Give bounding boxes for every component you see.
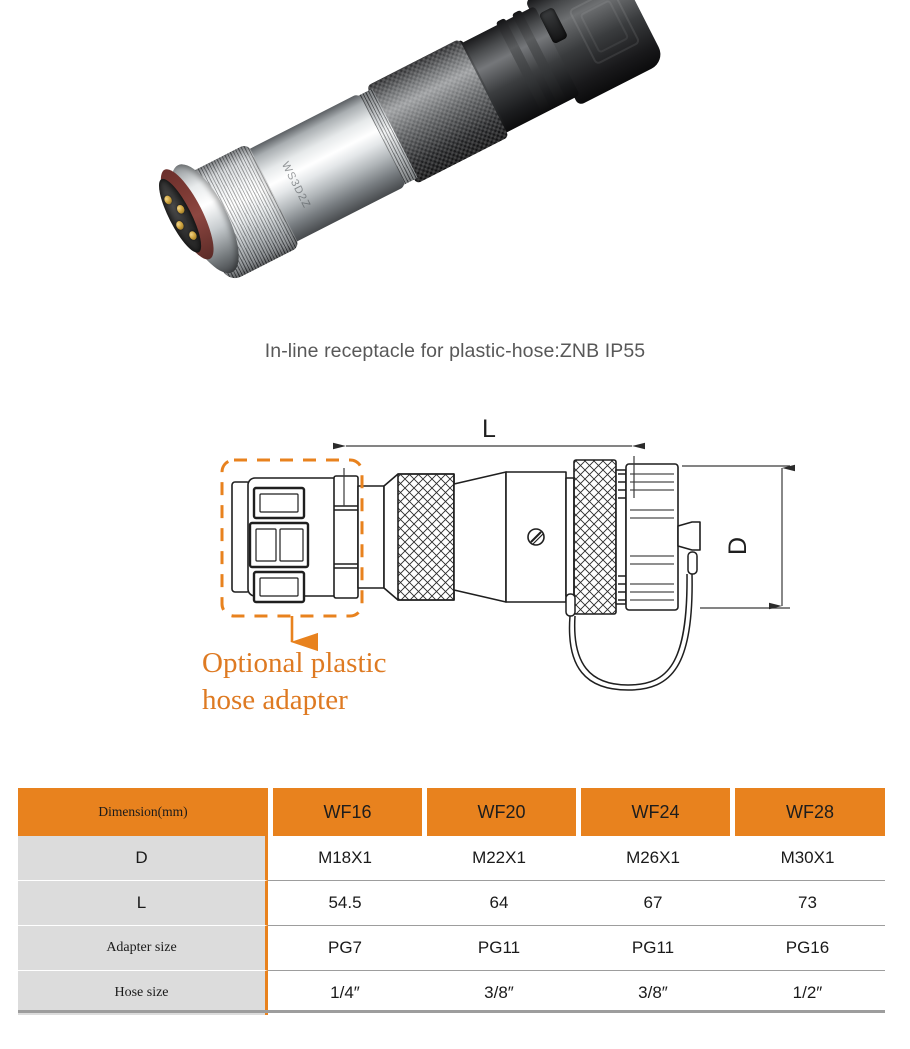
cell-d-wf24: M26X1	[576, 836, 730, 880]
annotation-line-2: hose adapter	[202, 682, 532, 719]
cell-d-wf20: M22X1	[422, 836, 576, 880]
column-header-wf28: WF28	[730, 788, 885, 836]
cell-d-wf28: M30X1	[730, 836, 885, 880]
cell-l-wf24: 67	[576, 880, 730, 925]
cell-d-wf16: M18X1	[268, 836, 422, 880]
row-label-l: L	[18, 880, 268, 925]
connector-assembly: WS3D2Z	[181, 0, 661, 274]
dimension-D-label: D	[724, 537, 752, 555]
contact-insert	[152, 174, 209, 257]
cell-adapter-wf28: PG16	[730, 925, 885, 970]
table-bottom-rule	[18, 1010, 885, 1013]
dimension-table: Dimension(mm) WF16 WF20 WF24 WF28 D M18X…	[18, 788, 885, 1015]
table-row: D M18X1 M22X1 M26X1 M30X1	[18, 836, 885, 880]
specification-table: Dimension(mm) WF16 WF20 WF24 WF28 D M18X…	[18, 788, 885, 1015]
cell-l-wf28: 73	[730, 880, 885, 925]
table-header-row: Dimension(mm) WF16 WF20 WF24 WF28	[18, 788, 885, 836]
receptacle-body-drawing	[358, 460, 700, 614]
cell-hose-wf20: 3/8″	[422, 970, 576, 1015]
cap-emboss	[568, 0, 641, 65]
cell-adapter-wf20: PG11	[422, 925, 576, 970]
face-seal-ring	[151, 163, 223, 266]
table-corner-label: Dimension(mm)	[18, 788, 268, 836]
cell-l-wf16: 54.5	[268, 880, 422, 925]
column-header-wf20: WF20	[422, 788, 576, 836]
row-label-hose-size: Hose size	[18, 970, 268, 1015]
plastic-hose-adapter-drawing	[232, 476, 358, 602]
contact-pin-2	[176, 204, 186, 215]
product-photo: WS3D2Z	[0, 0, 910, 330]
contact-pin-3	[175, 220, 185, 231]
cell-hose-wf24: 3/8″	[576, 970, 730, 1015]
cell-adapter-wf24: PG11	[576, 925, 730, 970]
row-label-d: D	[18, 836, 268, 880]
column-header-wf24: WF24	[576, 788, 730, 836]
column-header-wf16: WF16	[268, 788, 422, 836]
table-row: Adapter size PG7 PG11 PG11 PG16	[18, 925, 885, 970]
connector-face-shell	[158, 155, 252, 282]
cell-adapter-wf16: PG7	[268, 925, 422, 970]
dimension-L-label: L	[482, 415, 496, 443]
cell-hose-wf28: 1/2″	[730, 970, 885, 1015]
barrel-marking: WS3D2Z	[279, 160, 313, 211]
table-row: L 54.5 64 67 73	[18, 880, 885, 925]
contact-pin-1	[163, 194, 173, 205]
annotation-line-1: Optional plastic	[202, 645, 532, 682]
row-label-adapter-size: Adapter size	[18, 925, 268, 970]
photo-stage: WS3D2Z	[196, 38, 696, 308]
optional-adapter-annotation: Optional plastic hose adapter	[202, 645, 532, 719]
contact-pin-4	[188, 230, 198, 241]
photo-caption: In-line receptacle for plastic-hose:ZNB …	[0, 340, 910, 363]
cell-l-wf20: 64	[422, 880, 576, 925]
table-row: Hose size 1/4″ 3/8″ 3/8″ 1/2″	[18, 970, 885, 1015]
cell-hose-wf16: 1/4″	[268, 970, 422, 1015]
